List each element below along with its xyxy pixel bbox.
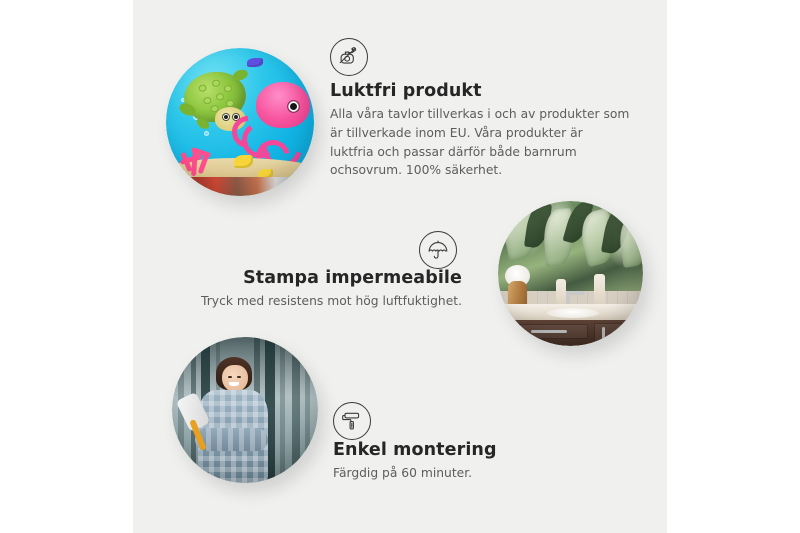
feature-text-waterproof-print: Stampa impermeabile Tryck med resistens … bbox=[162, 268, 462, 311]
feature-text-odor-free: Luktfri produkt Alla våra tavlor tillver… bbox=[330, 81, 630, 180]
product-feature-infographic: Luktfri produkt Alla våra tavlor tillver… bbox=[0, 0, 800, 533]
feature-description-waterproof-print: Tryck med resistens mot hög luftfuktighe… bbox=[162, 292, 462, 311]
feature-text-easy-mounting: Enkel montering Färgdig på 60 minuter. bbox=[333, 440, 633, 483]
sea-foreground-strip bbox=[166, 177, 314, 196]
feature-description-easy-mounting: Färgdig på 60 minuter. bbox=[333, 464, 633, 483]
feature-image-easy-mounting bbox=[172, 337, 318, 483]
feature-title-waterproof-print: Stampa impermeabile bbox=[162, 268, 462, 288]
octopus-head bbox=[256, 82, 309, 128]
feature-title-easy-mounting: Enkel montering bbox=[333, 440, 633, 460]
woman-smile bbox=[229, 382, 239, 386]
woman-crossed-arms bbox=[195, 428, 268, 451]
bathroom-tropical-wallpaper bbox=[498, 201, 643, 346]
feature-title-odor-free: Luktfri produkt bbox=[330, 81, 630, 101]
toiletry-bottle bbox=[594, 274, 606, 304]
umbrella-icon bbox=[419, 231, 457, 269]
toiletry-bottle bbox=[556, 279, 566, 304]
paint-roller-icon bbox=[333, 402, 371, 440]
perfume-bottle-crossed-out-icon bbox=[330, 38, 368, 76]
fish-icon bbox=[234, 155, 253, 168]
feature-image-odor-free bbox=[166, 48, 314, 196]
vanity-cabinet bbox=[507, 320, 643, 346]
underwater-cartoon-scene bbox=[166, 48, 314, 196]
coral bbox=[175, 131, 215, 175]
woman-with-paint-roller-forest bbox=[172, 337, 318, 483]
feature-description-odor-free: Alla våra tavlor tillverkas i och av pro… bbox=[330, 105, 630, 180]
feature-image-waterproof-print bbox=[498, 201, 643, 346]
